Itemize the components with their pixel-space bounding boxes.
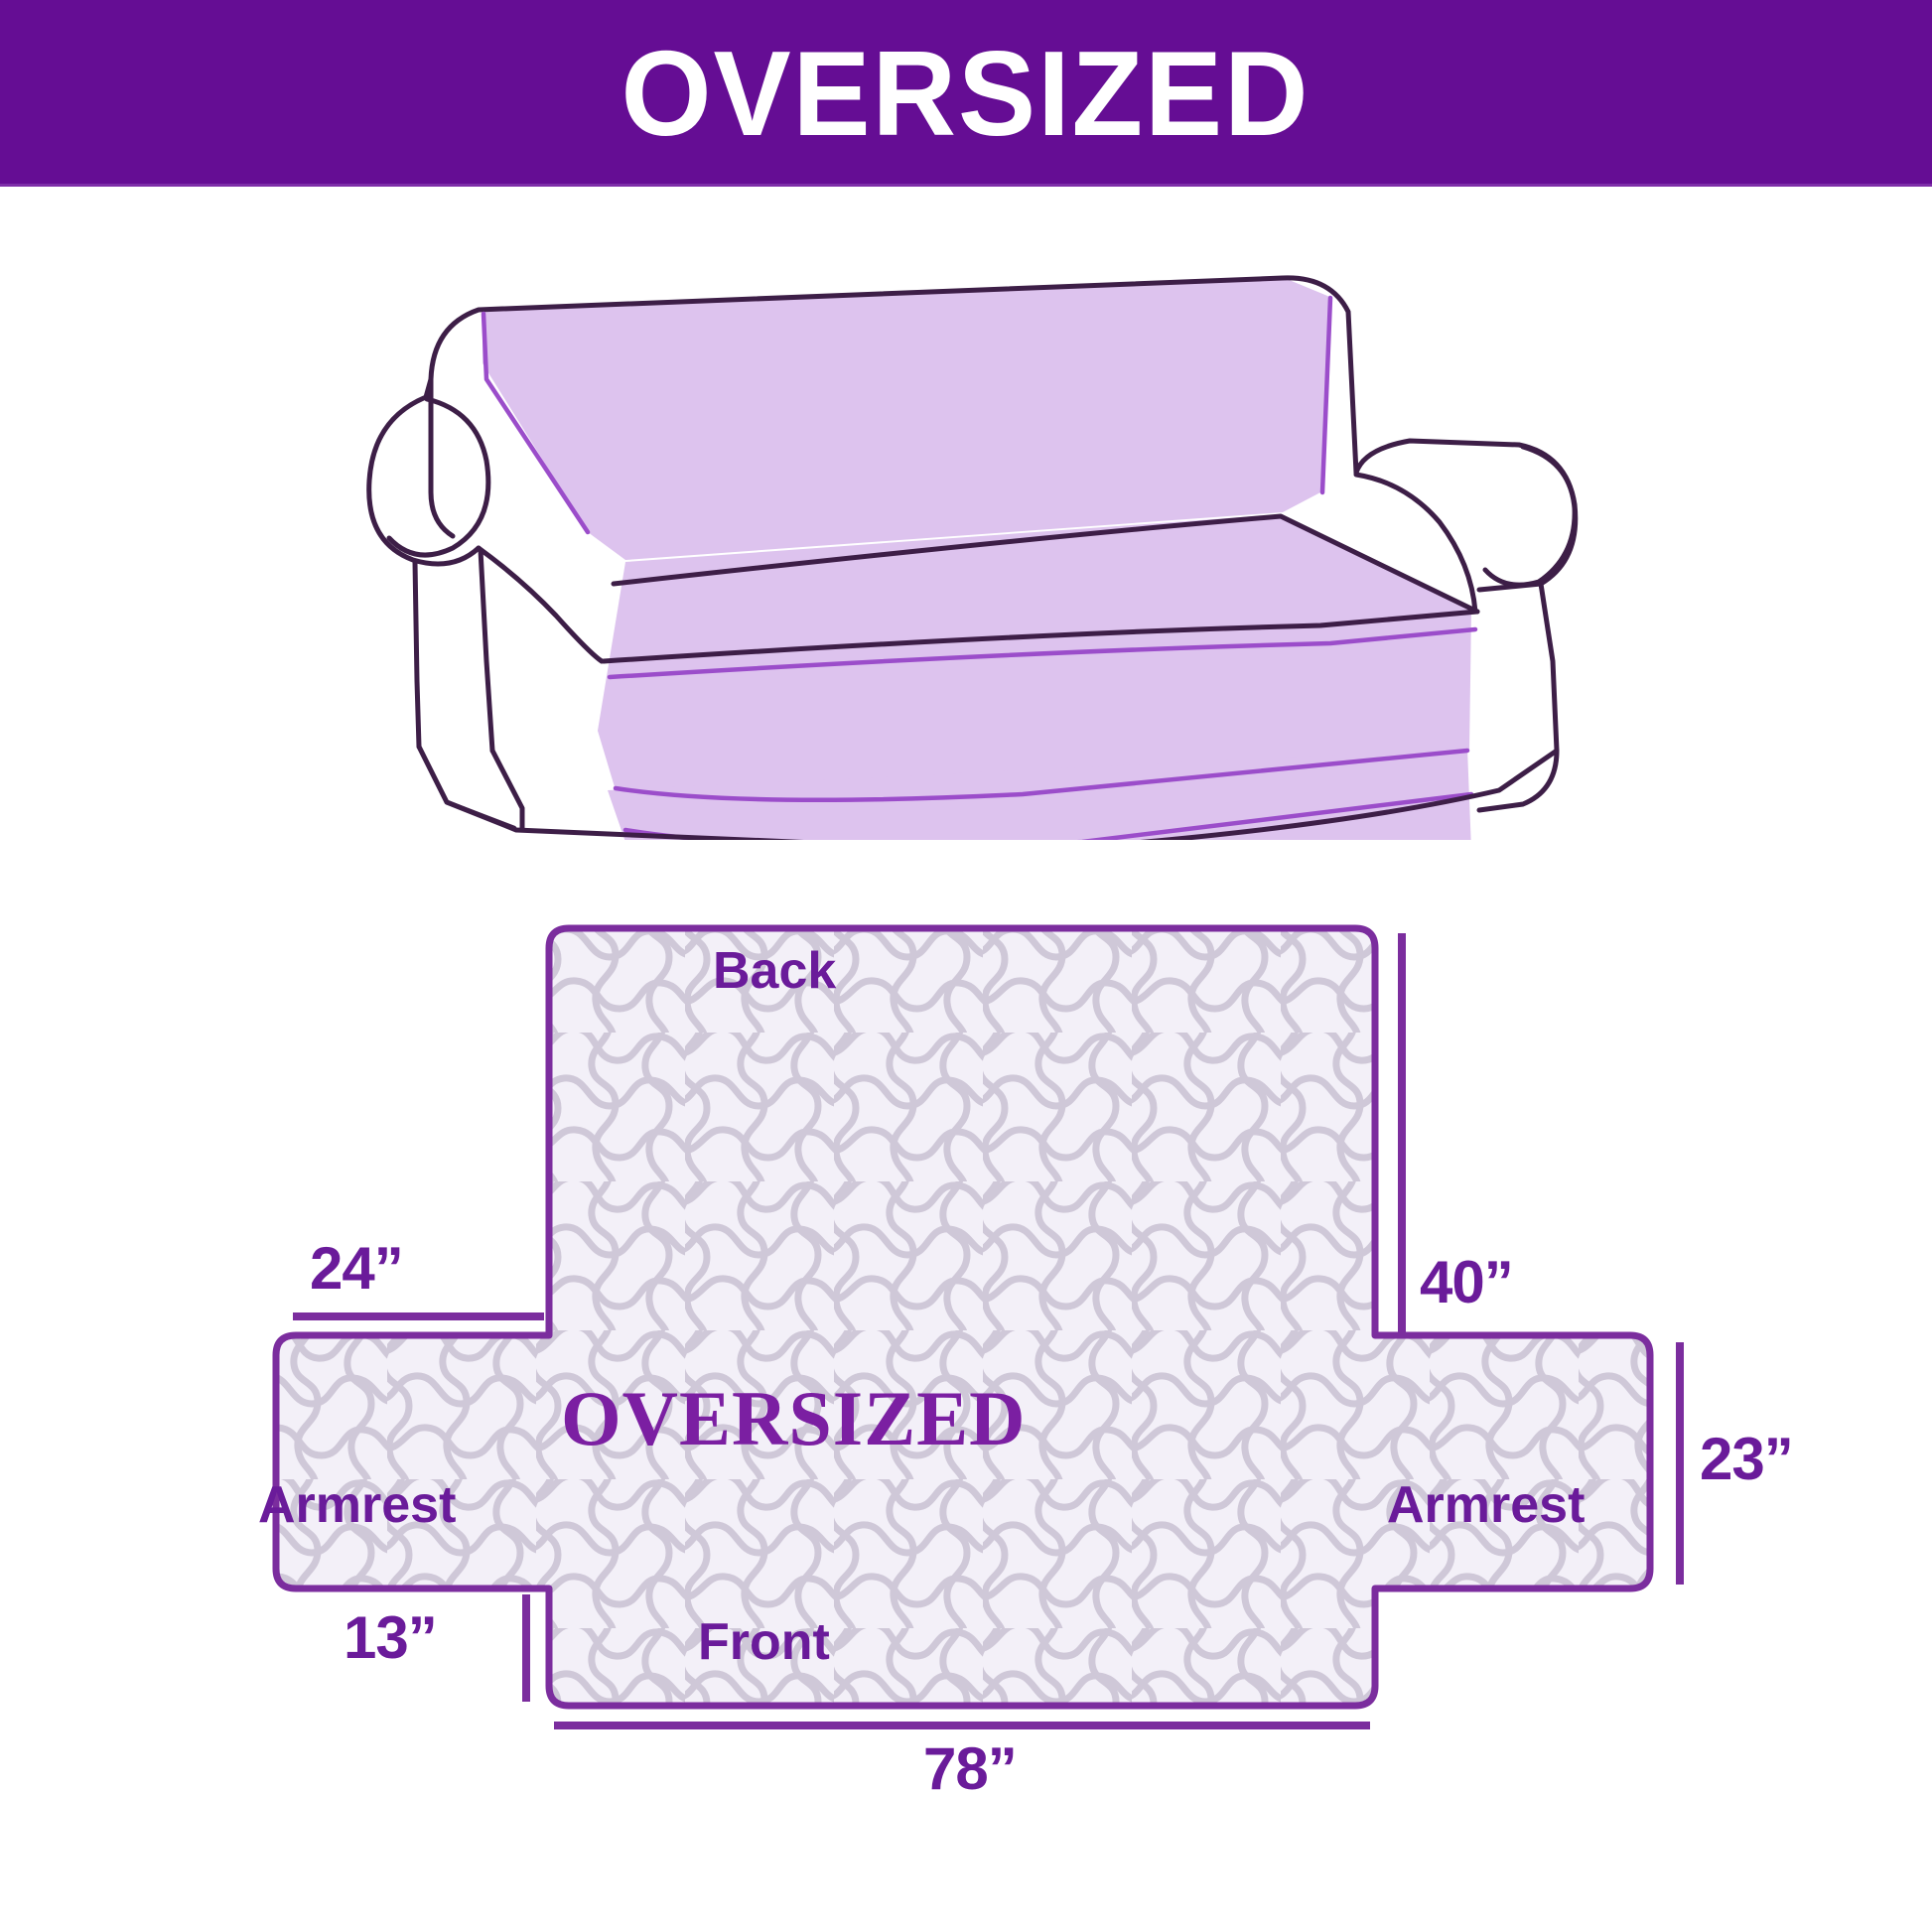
label-armrest-left: Armrest	[258, 1479, 456, 1531]
label-armrest-right: Armrest	[1387, 1479, 1585, 1531]
product-size-diagram: OVERSIZED .ink { fill:none; stroke:#3D1E…	[0, 0, 1932, 1932]
dimension-label-total-width: 78”	[923, 1739, 1017, 1799]
header-banner: OVERSIZED	[0, 0, 1932, 186]
dimension-label-armrest-depth: 23”	[1700, 1430, 1793, 1489]
banner-title: OVERSIZED	[621, 33, 1311, 154]
sofa-illustration: .ink { fill:none; stroke:#3D1E47; stroke…	[328, 195, 1608, 840]
dimension-label-back-height: 40”	[1420, 1253, 1513, 1312]
sofa-line-art-svg: .ink { fill:none; stroke:#3D1E47; stroke…	[328, 195, 1608, 840]
center-size-label: OVERSIZED	[561, 1380, 1026, 1457]
flat-pattern-svg	[238, 884, 1727, 1807]
dimension-label-shoulder-width: 24”	[310, 1239, 403, 1299]
label-back: Back	[713, 945, 836, 997]
flat-pattern-diagram: Back Armrest Armrest Front OVERSIZED 40”…	[238, 884, 1727, 1807]
banner-bottom-edge	[0, 184, 1932, 187]
dimension-label-skirt-height: 13”	[344, 1608, 437, 1668]
label-front: Front	[698, 1616, 830, 1668]
